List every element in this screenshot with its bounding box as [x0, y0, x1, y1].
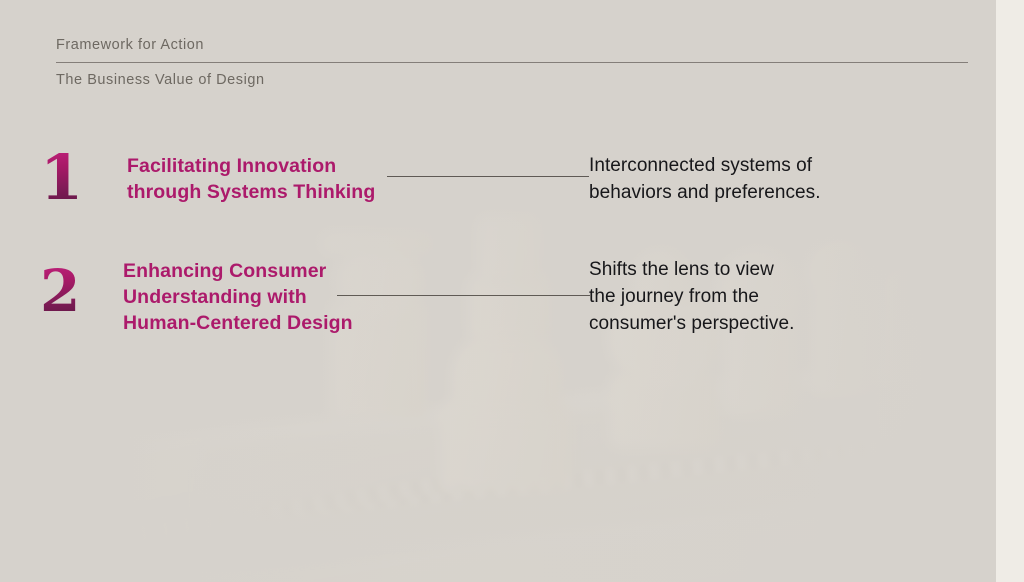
item-heading-2: Enhancing Consumer Understanding with Hu… [123, 258, 353, 336]
slide-canvas: Framework for Action The Business Value … [0, 0, 1024, 582]
board-inner-square [201, 382, 879, 568]
chess-piece-center-top [478, 216, 540, 284]
item-description-2: Shifts the lens to view the journey from… [589, 256, 794, 337]
chess-piece-center-neck [468, 276, 550, 340]
connector-line-1 [387, 176, 589, 177]
chess-piece-edge-head [806, 236, 880, 308]
chess-piece-left-collar [322, 232, 432, 254]
slide-header: Framework for Action The Business Value … [56, 33, 968, 93]
page-title: The Business Value of Design [56, 68, 968, 93]
chess-piece-back-row [880, 262, 940, 382]
item-heading-1: Facilitating Innovation through Systems … [127, 153, 375, 205]
connector-line-2 [337, 295, 590, 296]
header-rule-top [56, 62, 968, 63]
board-surface [0, 345, 1024, 582]
header-eyebrow: Framework for Action [56, 33, 968, 58]
chess-piece-right-base [610, 372, 718, 448]
right-edge-strip [996, 0, 1024, 582]
board-trim-front [221, 430, 978, 524]
item-number-1: 1 [40, 147, 82, 209]
board-trim-left [61, 472, 478, 553]
item-number-2: 2 [40, 262, 79, 320]
item-description-1: Interconnected systems of behaviors and … [589, 152, 821, 206]
chess-piece-center-base [440, 400, 570, 490]
chess-piece-edge-body [812, 292, 876, 396]
chess-piece-center-mid [452, 330, 562, 416]
